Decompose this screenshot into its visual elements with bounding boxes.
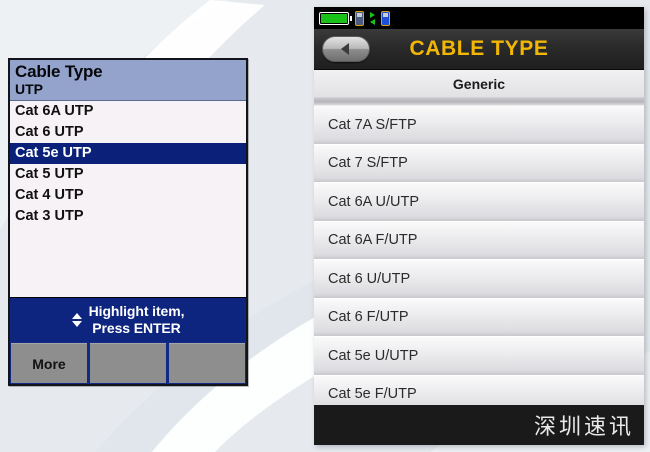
left-hint-line1: Highlight item,: [89, 303, 185, 320]
left-page-subtitle: UTP: [15, 81, 241, 97]
left-softkey-bar: More: [10, 342, 246, 384]
section-divider: [314, 98, 644, 106]
list-item[interactable]: Cat 5e U/UTP: [314, 337, 644, 376]
back-chevron-icon: [341, 43, 349, 55]
softkey-3[interactable]: [169, 343, 245, 383]
list-item-selected[interactable]: Cat 5e UTP: [10, 143, 246, 164]
list-item[interactable]: Cat 7 S/FTP: [314, 145, 644, 184]
softkey-2[interactable]: [90, 343, 166, 383]
left-title-bar: Cable Type UTP: [10, 60, 246, 101]
right-device-screen: CABLE TYPE Generic Cat 7A S/FTP Cat 7 S/…: [314, 7, 644, 445]
remote-unit-icon: [381, 11, 390, 26]
left-hint-bar: Highlight item, Press ENTER: [10, 297, 246, 342]
list-item[interactable]: Cat 3 UTP: [10, 206, 246, 227]
list-item[interactable]: Cat 4 UTP: [10, 185, 246, 206]
left-page-title: Cable Type: [15, 62, 241, 81]
left-device-screen: Cable Type UTP Cat 6A UTP Cat 6 UTP Cat …: [8, 58, 248, 386]
list-item[interactable]: Cat 6 F/UTP: [314, 299, 644, 338]
left-hint-text: Highlight item, Press ENTER: [89, 303, 185, 337]
battery-full-icon: [319, 12, 349, 25]
tester-unit-icon: [355, 11, 364, 26]
watermark-text: 深圳速讯: [534, 409, 634, 441]
status-bar: [314, 7, 644, 29]
cable-type-list[interactable]: Cat 7A S/FTP Cat 7 S/FTP Cat 6A U/UTP Ca…: [314, 106, 644, 415]
section-header-generic: Generic: [314, 70, 644, 98]
list-item[interactable]: Cat 6A UTP: [10, 101, 246, 122]
list-item[interactable]: Cat 6 UTP: [10, 122, 246, 143]
link-arrows-icon: [370, 12, 375, 25]
list-item[interactable]: Cat 6 U/UTP: [314, 260, 644, 299]
list-item[interactable]: Cat 6A F/UTP: [314, 222, 644, 261]
list-item[interactable]: Cat 6A U/UTP: [314, 183, 644, 222]
left-hint-line2: Press ENTER: [89, 320, 185, 337]
back-button[interactable]: [322, 36, 370, 62]
title-bar: CABLE TYPE: [314, 29, 644, 70]
list-item[interactable]: Cat 5 UTP: [10, 164, 246, 185]
list-item[interactable]: Cat 7A S/FTP: [314, 106, 644, 145]
left-cable-type-list[interactable]: Cat 6A UTP Cat 6 UTP Cat 5e UTP Cat 5 UT…: [10, 101, 246, 286]
up-down-arrows-icon: [72, 313, 82, 327]
bottom-bar: 深圳速讯: [314, 405, 644, 445]
softkey-more[interactable]: More: [11, 343, 87, 383]
